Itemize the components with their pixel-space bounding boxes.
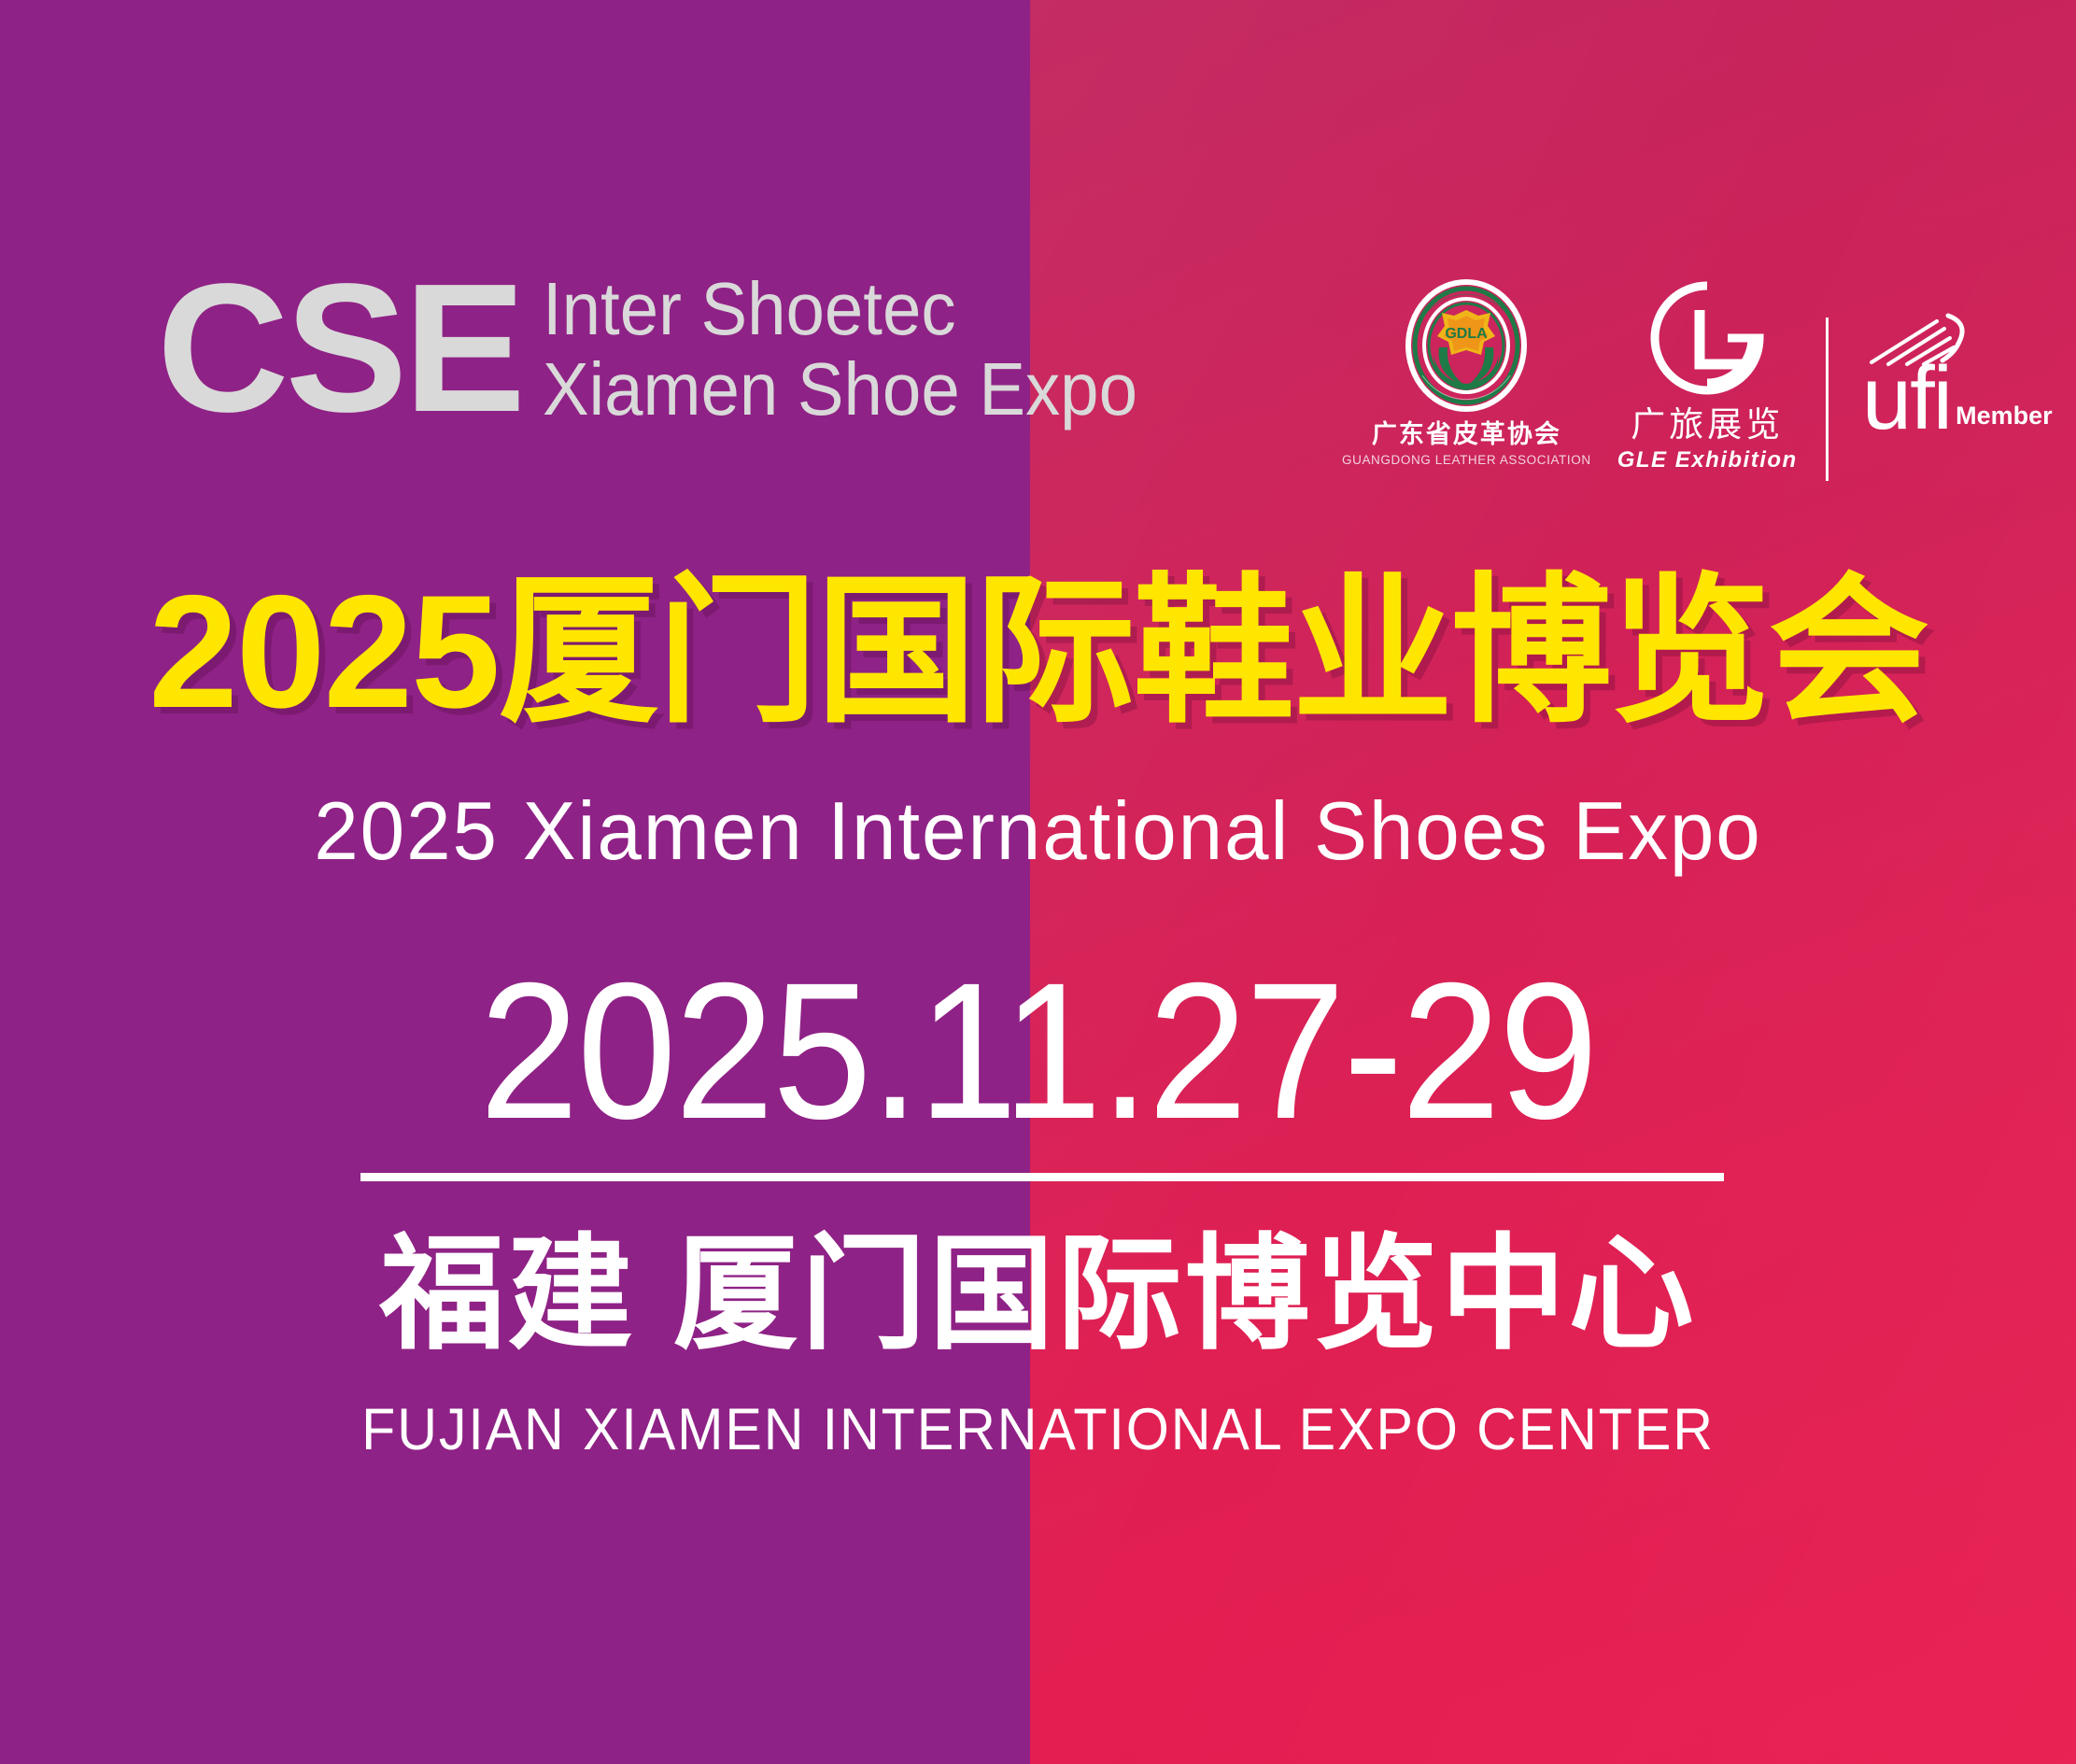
cse-name-line-1: Inter Shoetec — [543, 269, 1137, 349]
gle-g-mark-icon — [1612, 278, 1803, 398]
gdla-seal-icon: GDLA — [1396, 278, 1536, 418]
ufi-wordmark: ufi — [1862, 364, 1951, 434]
main-title-english: 2025 Xiamen International Shoes Expo — [31, 790, 2044, 872]
main-title-chinese: 2025厦门国际鞋业博览会 — [0, 572, 2076, 732]
gle-name-en: GLE Exhibition — [1617, 449, 1798, 472]
gdla-logo: GDLA 广东省皮革协会 GUANGDONG LEATHER ASSOCIATI… — [1342, 278, 1591, 467]
logo-vertical-divider — [1826, 318, 1829, 481]
partner-logo-strip: GDLA 广东省皮革协会 GUANGDONG LEATHER ASSOCIATI… — [1342, 278, 2053, 481]
horizontal-rule — [360, 1173, 1724, 1181]
venue-name-chinese: 福建 厦门国际博览中心 — [0, 1233, 2076, 1358]
cse-logo-block: CSE Inter Shoetec Xiamen Shoe Expo — [157, 263, 1182, 433]
event-date: 2025.11.27-29 — [83, 954, 1993, 1149]
ufi-member-label: Member — [1956, 403, 2053, 429]
venue-name-english: FUJIAN XIAMEN INTERNATIONAL EXPO CENTER — [63, 1401, 2014, 1460]
ufi-wordmark-row: ufi Member — [1862, 364, 2053, 434]
cse-name-lines: Inter Shoetec Xiamen Shoe Expo — [543, 269, 1182, 430]
svg-text:GDLA: GDLA — [1446, 326, 1489, 342]
cse-wordmark: CSE — [157, 263, 522, 433]
gle-name-cn: 广旅展览 — [1631, 407, 1784, 442]
ufi-logo: ufi Member — [1862, 310, 2053, 434]
expo-promo-banner: CSE Inter Shoetec Xiamen Shoe Expo — [0, 0, 2076, 1764]
cse-name-line-2: Xiamen Shoe Expo — [543, 349, 1137, 430]
gdla-name-en: GUANGDONG LEATHER ASSOCIATION — [1342, 454, 1591, 467]
gle-logo: 广旅展览 GLE Exhibition — [1612, 278, 1803, 472]
gdla-name-cn: 广东省皮革协会 — [1372, 422, 1561, 447]
